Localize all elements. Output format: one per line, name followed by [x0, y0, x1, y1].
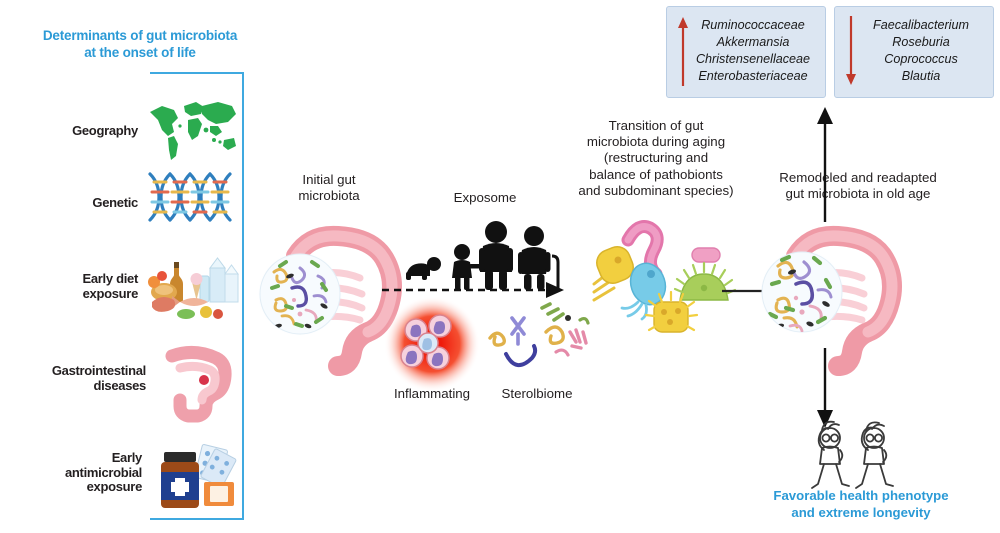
taxa-panel-decreased: Faecalibacterium Roseburia Coprococcus B… [834, 6, 994, 98]
sterolbiome-label: Sterolbiome [482, 386, 592, 401]
determinant-early-diet: Early diet exposure [10, 248, 240, 326]
taxa-panel-increased: Ruminococcaceae Akkermansia Christensene… [666, 6, 826, 98]
inflammation-cells-icon [378, 296, 486, 397]
down-arrow-icon [843, 14, 859, 88]
gut-microbiota-aged-icon [756, 222, 908, 361]
left-panel-title: Determinants of gut microbiota at the on… [26, 28, 254, 62]
taxa-list-decreased: Faecalibacterium Roseburia Coprococcus B… [859, 17, 983, 85]
determinant-early-antimicrobial-label: Early antimicrobial exposure [65, 451, 142, 496]
remodeled-label: Remodeled and readapted gut microbiota i… [758, 170, 958, 202]
determinant-genetic: Genetic [10, 168, 240, 238]
determinant-gastrointestinal-diseases-label: Gastrointestinal diseases [52, 364, 146, 394]
left-panel-title-line1: Determinants of gut microbiota [26, 28, 254, 45]
elderly-exercising-icon [798, 420, 910, 497]
up-arrow-icon [675, 14, 691, 88]
transition-label: Transition of gut microbiota during agin… [568, 118, 744, 199]
determinant-geography: Geography [10, 96, 240, 166]
taxa-list-increased: Ruminococcaceae Akkermansia Christensene… [691, 17, 815, 85]
gut-to-taxa-arrow [814, 104, 836, 229]
mixed-bacteria-icon [592, 216, 752, 337]
left-panel-title-line2: at the onset of life [26, 45, 254, 62]
intestine-disease-icon [152, 344, 240, 414]
determinant-geography-label: Geography [72, 124, 138, 139]
determinant-early-diet-label: Early diet exposure [82, 272, 138, 302]
world-map-icon [144, 96, 240, 166]
exposome-label: Exposome [428, 190, 542, 206]
initial-gut-label: Initial gut microbiota [258, 172, 400, 204]
determinant-genetic-label: Genetic [92, 196, 138, 211]
medicine-bottle-icon [148, 438, 240, 508]
determinant-early-antimicrobial: Early antimicrobial exposure [10, 432, 240, 514]
determinant-gastrointestinal-diseases: Gastrointestinal diseases [0, 340, 240, 418]
food-assortment-icon [144, 252, 240, 322]
inflammating-label: Inflammating [374, 386, 490, 401]
favorable-health-outcome-label: Favorable health phenotype and extreme l… [735, 487, 987, 521]
dna-helix-icon [144, 168, 240, 238]
sterolbiome-molecules-icon [484, 302, 596, 393]
